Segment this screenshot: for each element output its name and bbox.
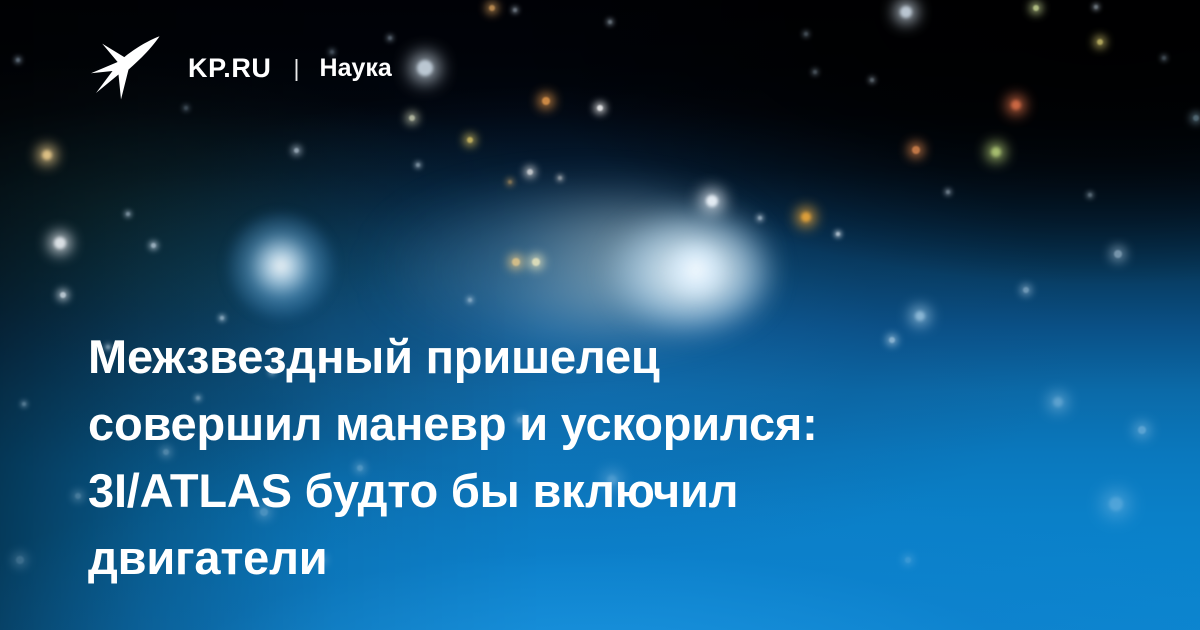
headline-line-3: 3I/ATLAS будто бы включил [88,457,948,524]
star-icon [508,180,512,184]
swallow-bird-logo-icon[interactable] [90,35,162,101]
headline: Межзвездный пришелец совершил маневр и у… [88,323,948,591]
star-icon [804,32,808,36]
star-icon [1053,397,1063,407]
star-icon [513,8,517,12]
star-icon [489,5,495,11]
star-icon [467,137,473,143]
star-icon [527,169,533,175]
star-icon [758,216,762,220]
star-icon [75,493,81,499]
star-icon [1011,100,1021,110]
star-icon [1033,5,1039,11]
headline-line-2: совершил маневр и ускорился: [88,390,948,457]
star-icon [54,237,66,249]
star-icon [813,70,817,74]
star-icon [870,78,874,82]
star-icon [1193,115,1199,121]
star-icon [294,148,299,153]
star-icon [1097,39,1103,45]
star-icon [608,20,612,24]
star-icon [1162,56,1166,60]
star-icon [991,147,1001,157]
star-icon [417,60,433,76]
star-icon [60,292,66,298]
star-icon [16,556,24,564]
star-icon [416,163,420,167]
section-name[interactable]: Наука [320,56,392,81]
star-icon [16,58,20,62]
star-icon [706,195,718,207]
comet-core-icon [668,244,724,296]
star-icon [558,176,562,180]
star-icon [801,212,811,222]
star-icon [597,105,603,111]
share-card: KP.RU | Наука Межзвездный пришелец совер… [0,0,1200,630]
card-header: KP.RU | Наука [90,36,392,100]
star-icon [542,97,550,105]
star-icon [1094,5,1098,9]
star-icon [912,146,920,154]
star-icon [836,232,840,236]
headline-line-1: Межзвездный пришелец [88,323,948,390]
star-icon [184,106,188,110]
star-icon [151,243,156,248]
bright-blue-star-icon [226,212,336,320]
star-icon [42,150,52,160]
star-icon [1023,287,1029,293]
headline-line-4: двигатели [88,524,948,591]
star-icon [220,316,224,320]
star-icon [915,311,925,321]
star-icon [1109,497,1123,511]
star-icon [409,115,415,121]
star-icon [1114,250,1122,258]
star-icon [126,212,130,216]
star-icon [1138,426,1146,434]
brand-name[interactable]: KP.RU [188,55,272,82]
header-separator: | [294,57,300,80]
star-icon [900,6,912,18]
star-icon [946,190,950,194]
star-icon [22,402,26,406]
star-icon [1088,193,1092,197]
